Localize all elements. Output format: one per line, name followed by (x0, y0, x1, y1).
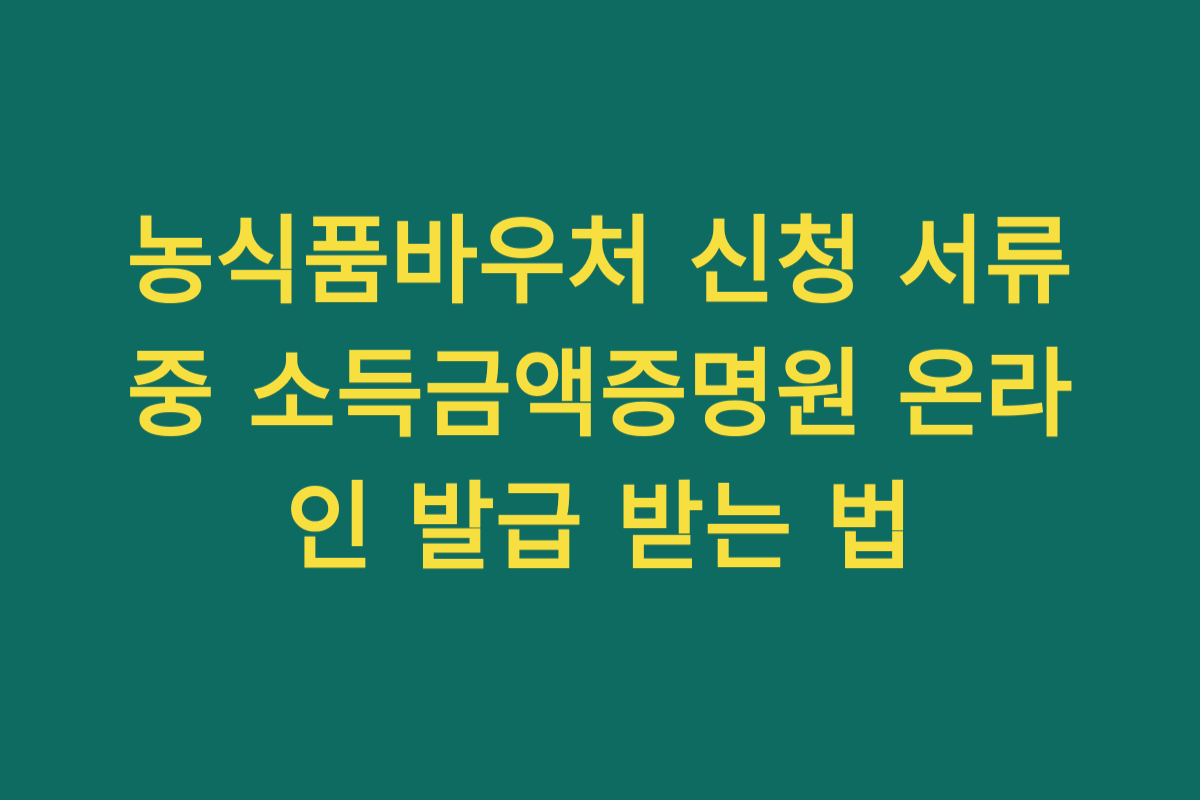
banner-title-line-3: 인 발급 받는 법 (70, 462, 1130, 595)
banner-title-line-2: 중 소득금액증명원 온라 (70, 329, 1130, 462)
banner-title: 농식품바우처 신청 서류 중 소득금액증명원 온라 인 발급 받는 법 (70, 196, 1130, 595)
thumbnail-banner: 농식품바우처 신청 서류 중 소득금액증명원 온라 인 발급 받는 법 (0, 0, 1200, 800)
banner-title-line-1: 농식품바우처 신청 서류 (70, 196, 1130, 329)
